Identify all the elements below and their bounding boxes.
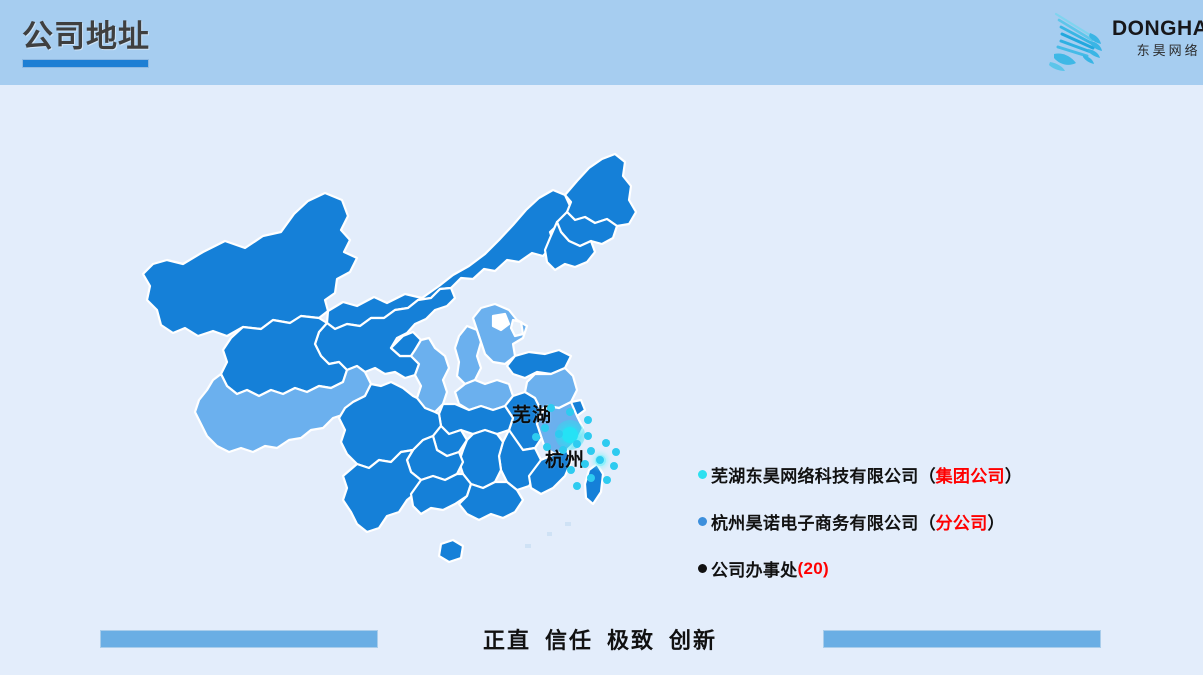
page-title-group: 公司地址 [22, 18, 150, 68]
office-marker[interactable] [543, 443, 551, 451]
office-marker[interactable] [555, 430, 563, 438]
page-title: 公司地址 [22, 18, 150, 56]
feather-wing-icon [1046, 10, 1110, 72]
legend-bullet-icon [698, 470, 707, 479]
legend-tag: 分公司 [936, 509, 988, 534]
province-xinjiang [143, 193, 357, 336]
footer-bar-left [100, 630, 378, 648]
office-marker[interactable] [573, 440, 581, 448]
legend-tag: (20) [798, 559, 829, 579]
slide-root: 公司地址 [0, 0, 1203, 675]
office-marker[interactable] [596, 456, 604, 464]
office-marker[interactable] [566, 408, 574, 416]
footer-bar-right [823, 630, 1101, 648]
office-marker[interactable] [587, 474, 595, 482]
office-marker[interactable] [584, 432, 592, 440]
legend-paren-close: ） [1005, 462, 1022, 487]
brand-name-cn: 东昊网络 [1112, 42, 1203, 60]
slogan-word: 信任 [545, 628, 593, 653]
office-marker[interactable] [602, 439, 610, 447]
office-marker[interactable] [581, 460, 589, 468]
map-label-wuhu: 芜湖 [512, 400, 552, 427]
office-marker[interactable] [559, 446, 567, 454]
office-marker[interactable] [610, 462, 618, 470]
china-map: 芜湖 杭州 [95, 140, 695, 610]
slogan-word: 创新 [669, 628, 717, 653]
legend-item-offices: 公司办事处 (20) [698, 556, 1118, 581]
legend-bullet-icon [698, 517, 707, 526]
office-marker[interactable] [612, 448, 620, 456]
legend-label: 芜湖东昊网络科技有限公司 [711, 462, 919, 487]
office-marker[interactable] [541, 424, 549, 432]
office-marker[interactable] [567, 466, 575, 474]
legend-label: 公司办事处 [711, 556, 798, 581]
legend-paren-close: ） [988, 509, 1005, 534]
province-inner-mongolia [327, 190, 571, 329]
legend-item-branch-company: 杭州昊诺电子商务有限公司 （ 分公司 ） [698, 509, 1118, 534]
legend-paren-open: （ [919, 462, 936, 487]
brand-logo-text: DONGHAO 东昊网络 [1112, 17, 1203, 60]
province-tianjin [511, 320, 523, 336]
title-underline [22, 59, 149, 68]
legend-paren-open: （ [919, 509, 936, 534]
slogan-word: 极致 [607, 628, 655, 653]
province-hubei [439, 404, 513, 434]
office-marker[interactable] [547, 404, 555, 412]
office-marker[interactable] [603, 476, 611, 484]
province-shanxi [455, 326, 481, 384]
office-marker[interactable] [532, 433, 540, 441]
province-heilongjiang [565, 154, 636, 226]
legend-item-group-company: 芜湖东昊网络科技有限公司 （ 集团公司 ） [698, 462, 1118, 487]
province-hainan [439, 540, 463, 562]
office-marker[interactable] [587, 447, 595, 455]
footer-slogan: 正直信任极致创新 [455, 623, 745, 655]
legend-label: 杭州昊诺电子商务有限公司 [711, 509, 919, 534]
brand-logo: DONGHAO 东昊网络 [1026, 8, 1196, 76]
office-marker[interactable] [584, 416, 592, 424]
legend-bullet-icon [698, 564, 707, 573]
brand-name-en: DONGHAO [1112, 17, 1203, 41]
province-taiwan [585, 464, 603, 504]
legend: 芜湖东昊网络科技有限公司 （ 集团公司 ） 杭州昊诺电子商务有限公司 （ 分公司… [698, 462, 1118, 603]
slide-header: 公司地址 [0, 0, 1203, 85]
office-marker[interactable] [573, 482, 581, 490]
legend-tag: 集团公司 [936, 462, 1005, 487]
slogan-word: 正直 [483, 628, 531, 653]
